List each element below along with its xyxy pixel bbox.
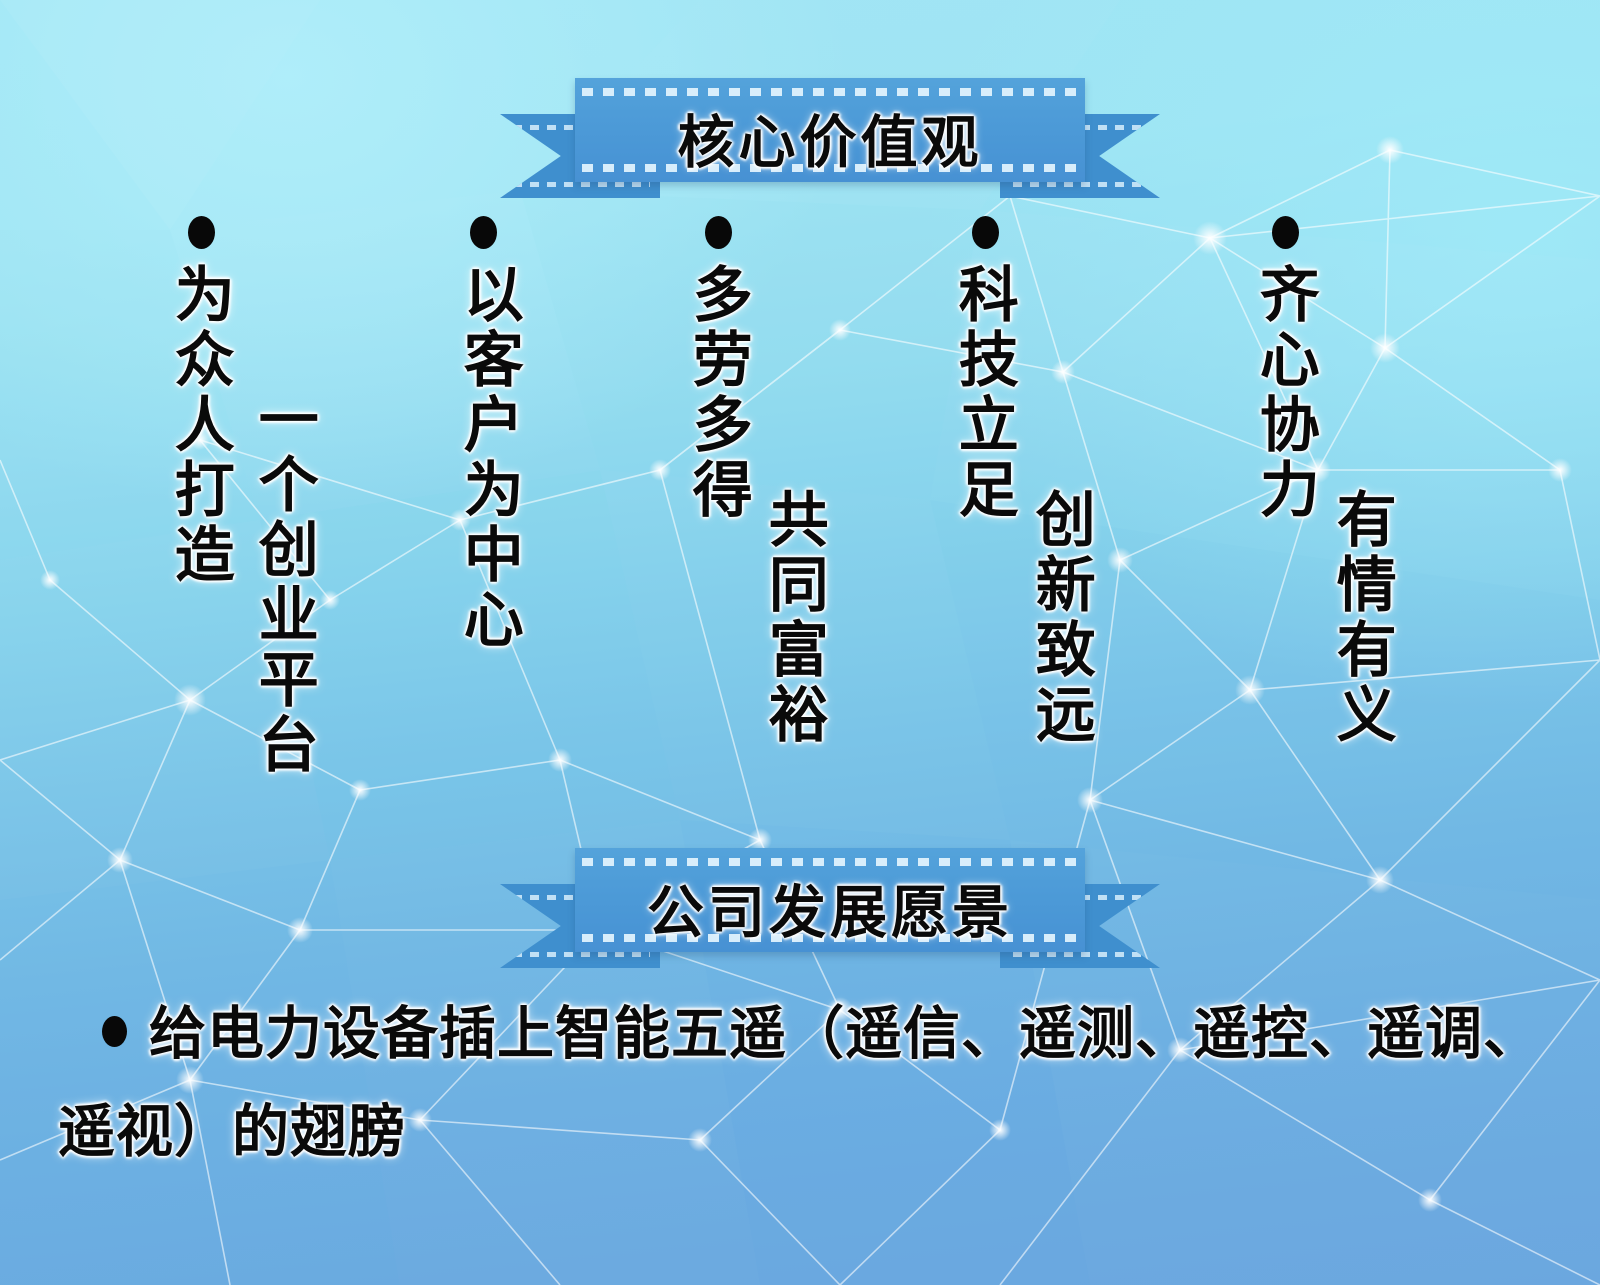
slide-canvas: 核心价值观 为众人打造 一个创业平台 以客户为中心 多劳多得 共同富裕 科技立足… [0,0,1600,1285]
value-column-2-primary: 以客户为中心 [455,263,522,653]
bullet-icon [1272,216,1299,249]
value-column-4-secondary: 创新致远 [1027,488,1094,748]
value-column-1-primary: 为众人打造 [166,263,233,588]
value-column-5-secondary: 有情有义 [1328,488,1395,748]
vision-body-line-2: 遥视）的翅膀 [58,1100,406,1164]
bullet-icon [188,216,215,249]
value-column-3-primary: 多劳多得 [684,263,751,523]
banner-title-core-values: 核心价值观 [500,78,1160,198]
banner-company-vision: 公司发展愿景 [500,848,1160,968]
vision-body-line-1: 给电力设备插上智能五遥（遥信、遥测、遥控、遥调、 [149,1002,1541,1066]
value-column-4-primary: 科技立足 [950,263,1017,523]
vision-body-text: 给电力设备插上智能五遥（遥信、遥测、遥控、遥调、遥视）的翅膀 [58,985,1558,1181]
bullet-icon [705,216,732,249]
bullet-icon [972,216,999,249]
banner-core-values: 核心价值观 [500,78,1160,198]
bullet-icon [470,216,497,249]
value-column-3-secondary: 共同富裕 [760,488,827,748]
banner-title-company-vision: 公司发展愿景 [500,848,1160,968]
bullet-icon [102,1016,127,1047]
value-column-1-secondary: 一个创业平台 [250,388,317,778]
value-column-5-primary: 齐心协力 [1251,263,1318,523]
